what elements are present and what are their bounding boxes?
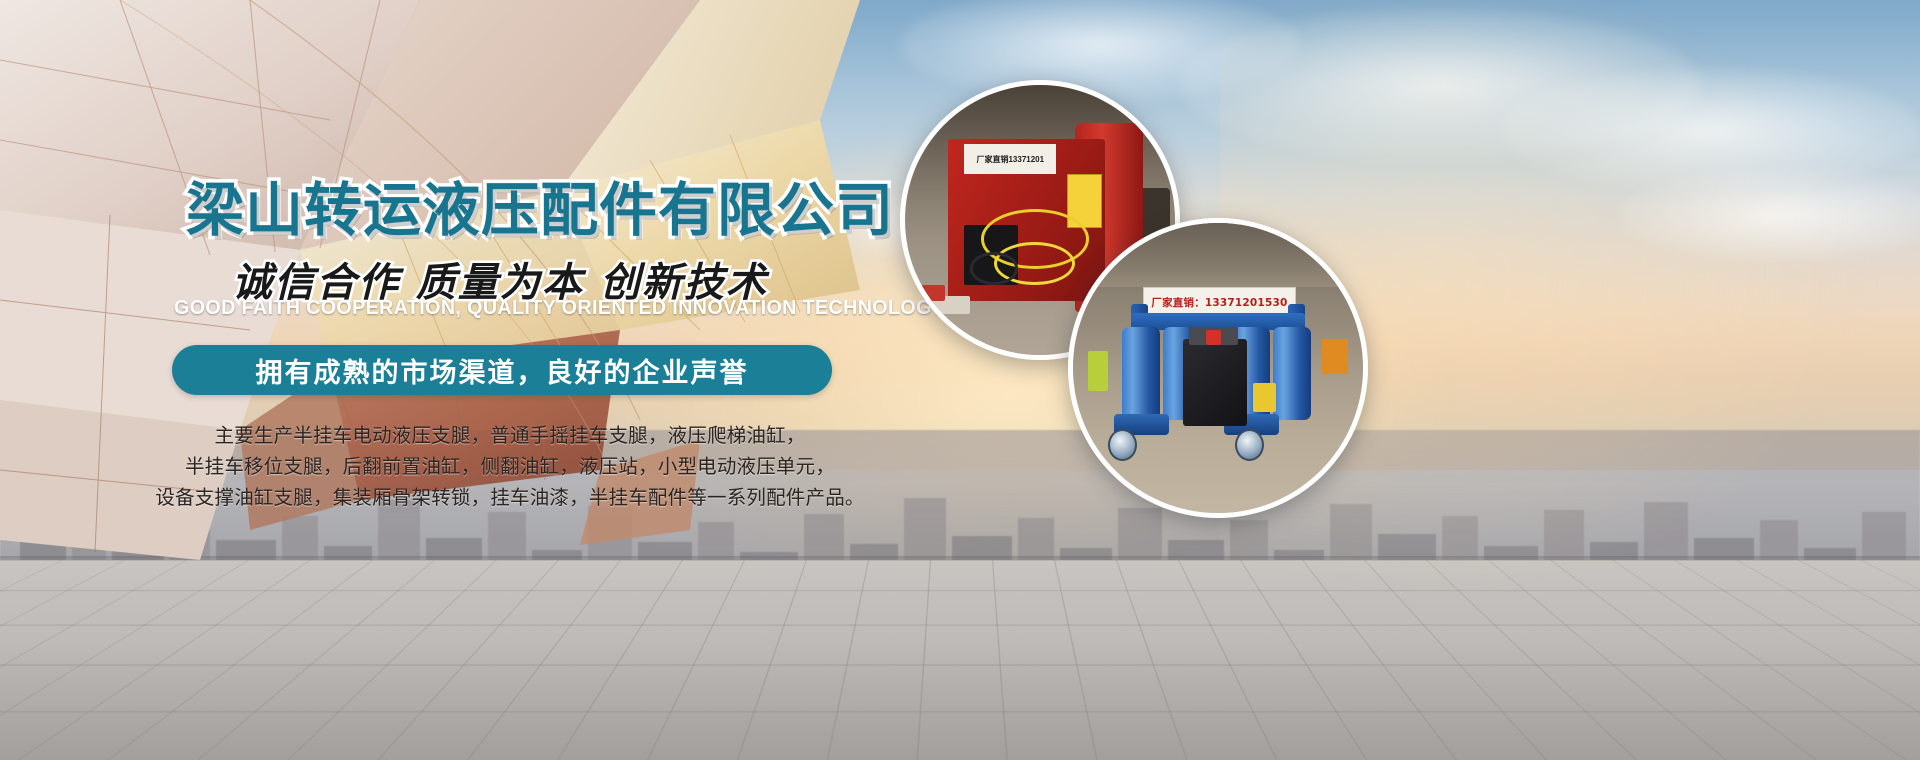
highlight-pill-text: 拥有成熟的市场渠道，良好的企业声誉 — [256, 351, 749, 390]
description-line: 主要生产半挂车电动液压支腿，普通手摇挂车支腿，液压爬梯油缸， — [150, 420, 870, 451]
description-line: 设备支撑油缸支腿，集装厢骨架转锁，挂车油漆，半挂车配件等一系列配件产品。 — [150, 482, 870, 513]
blue-machine-sign-text: 厂家直销：13371201530 — [1151, 295, 1287, 310]
description-paragraph: 主要生产半挂车电动液压支腿，普通手摇挂车支腿，液压爬梯油缸， 半挂车移位支腿，后… — [150, 420, 870, 513]
company-banner: 梁山转运液压配件有限公司 诚信合作 质量为本 创新技术 GOOD FAITH C… — [0, 0, 1920, 760]
page-title: 梁山转运液压配件有限公司 — [186, 163, 894, 247]
english-tagline: GOOD FAITH COOPERATION, QUALITY ORIENTED… — [174, 296, 945, 320]
description-line: 半挂车移位支腿，后翻前置油缸，侧翻油缸，液压站，小型电动液压单元， — [150, 451, 870, 482]
banner-copy: 梁山转运液压配件有限公司 诚信合作 质量为本 创新技术 GOOD FAITH C… — [0, 0, 1010, 620]
ground-shading — [0, 640, 1920, 760]
red-machine-plate-text: 厂家直销13371201 — [964, 147, 1056, 171]
product-photo-blue-machine: 厂家直销：13371201530 — [1068, 218, 1368, 518]
highlight-pill: 拥有成熟的市场渠道，良好的企业声誉 — [172, 345, 832, 395]
